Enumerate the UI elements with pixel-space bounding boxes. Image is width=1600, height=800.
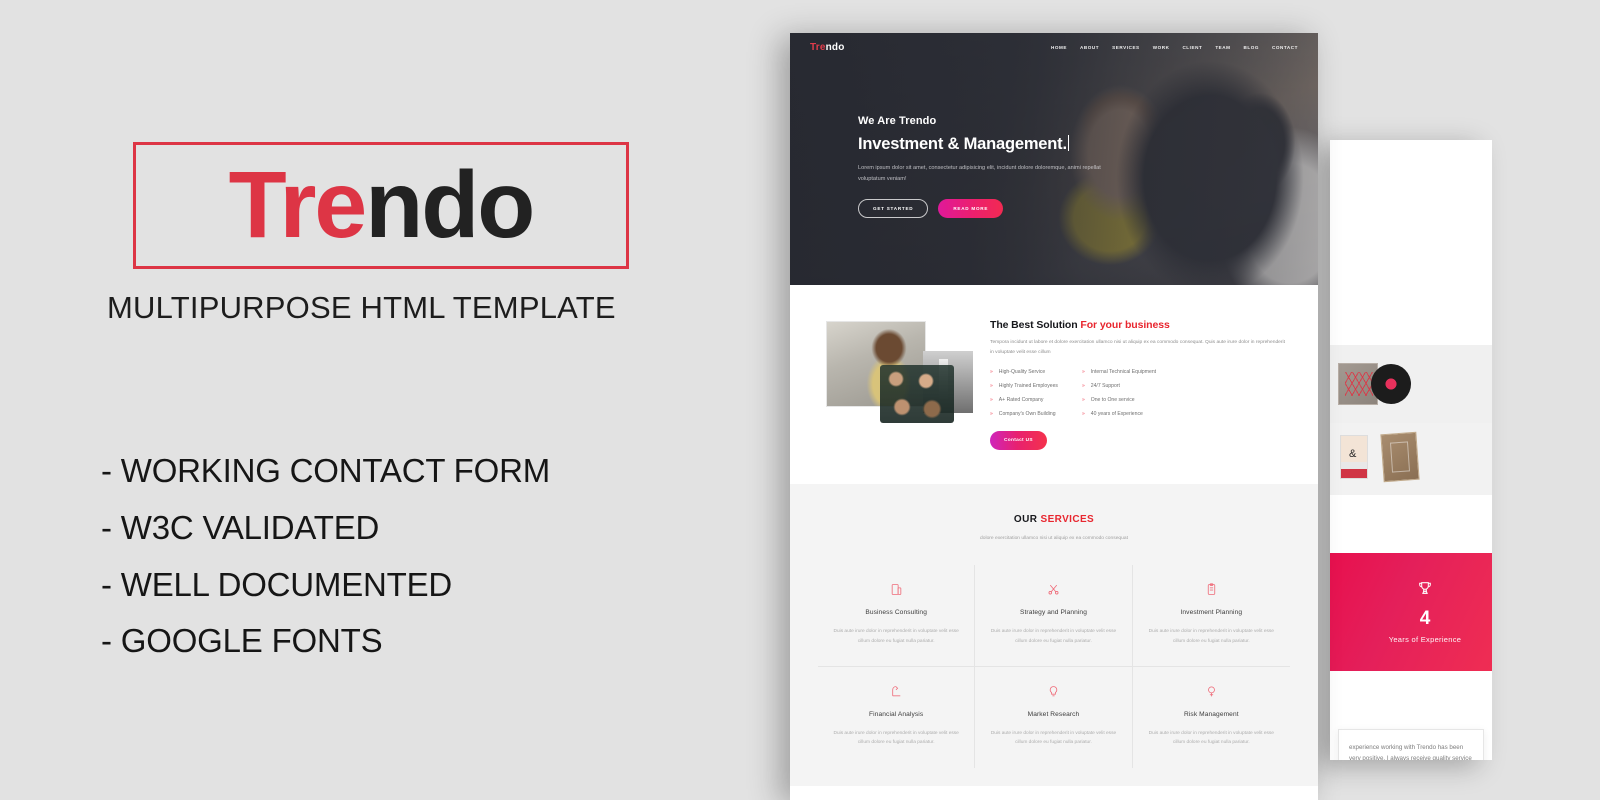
hero-title: Investment & Management. bbox=[858, 135, 1067, 153]
service-text: Duis aute irure dolor in reprehenderit i… bbox=[832, 627, 960, 646]
services-grid: Business Consulting Duis aute irure dolo… bbox=[818, 565, 1290, 767]
back-page-blank-mid bbox=[1330, 671, 1492, 723]
bullet-item: »High-Quality Service bbox=[990, 369, 1058, 375]
bullets-column-left: »High-Quality Service »Highly Trained Em… bbox=[990, 369, 1058, 417]
about-section: The Best Solution For your business Temp… bbox=[790, 285, 1318, 484]
read-more-button[interactable]: Read More bbox=[938, 199, 1003, 218]
trophy-icon bbox=[1417, 580, 1433, 599]
service-name: Investment Planning bbox=[1147, 609, 1276, 616]
services-header: OUR SERVICES dolore exercitation ullamco… bbox=[790, 514, 1318, 544]
promo-panel: Trendo MULTIPURPOSE HTML TEMPLATE - WORK… bbox=[0, 0, 790, 800]
bullet-item: »24/7 Support bbox=[1082, 383, 1156, 389]
about-title: The Best Solution For your business bbox=[990, 319, 1290, 331]
service-name: Market Research bbox=[989, 711, 1117, 718]
services-subtitle: dolore exercitation ullamco nisi ut aliq… bbox=[790, 534, 1318, 544]
testimonial-text: experience working with Trendo has been … bbox=[1349, 742, 1473, 760]
secondary-page-mockup: 4 Years of Experience experience working… bbox=[1330, 140, 1492, 760]
bullet-label: Internal Technical Equipment bbox=[1091, 369, 1156, 375]
chevron-right-icon: » bbox=[1082, 397, 1085, 403]
bullet-label: Company's Own Building bbox=[999, 411, 1056, 417]
about-bullets: »High-Quality Service »Highly Trained Em… bbox=[990, 369, 1290, 417]
service-name: Financial Analysis bbox=[832, 711, 960, 718]
bullets-column-right: »Internal Technical Equipment »24/7 Supp… bbox=[1082, 369, 1156, 417]
service-name: Risk Management bbox=[1147, 711, 1276, 718]
back-page-gap bbox=[1330, 495, 1492, 553]
chevron-right-icon: » bbox=[990, 369, 993, 375]
tagline: MULTIPURPOSE HTML TEMPLATE bbox=[107, 290, 667, 326]
service-card[interactable]: Investment Planning Duis aute irure dolo… bbox=[1133, 565, 1290, 667]
logo-part-red: Tre bbox=[229, 152, 366, 258]
chevron-right-icon: » bbox=[1082, 383, 1085, 389]
navbar-logo-red: Tre bbox=[810, 42, 826, 53]
clipboard-icon bbox=[1147, 583, 1276, 598]
experience-label: Years of Experience bbox=[1389, 635, 1462, 644]
shield-icon bbox=[1147, 685, 1276, 700]
about-copy: The Best Solution For your business Temp… bbox=[990, 317, 1290, 450]
nav-item-contact[interactable]: CONTACT bbox=[1272, 45, 1298, 50]
nav-item-work[interactable]: WORK bbox=[1153, 45, 1170, 50]
about-title-dark: The Best Solution bbox=[990, 319, 1078, 331]
feature-item: - WELL DOCUMENTED bbox=[101, 557, 741, 614]
service-card[interactable]: Financial Analysis Duis aute irure dolor… bbox=[818, 667, 975, 768]
experience-number: 4 bbox=[1420, 609, 1431, 628]
service-name: Business Consulting bbox=[832, 609, 960, 616]
service-card[interactable]: Business Consulting Duis aute irure dolo… bbox=[818, 565, 975, 667]
service-text: Duis aute irure dolor in reprehenderit i… bbox=[832, 729, 960, 748]
services-section: OUR SERVICES dolore exercitation ullamco… bbox=[790, 484, 1318, 786]
hero-content: We Are Trendo Investment & Management. L… bbox=[858, 115, 1158, 218]
feature-item: - WORKING CONTACT FORM bbox=[101, 443, 741, 500]
nav-item-team[interactable]: TEAM bbox=[1215, 45, 1230, 50]
bullet-label: One to One service bbox=[1091, 397, 1135, 403]
logo-part-dark: ndo bbox=[365, 152, 533, 258]
hero-subtitle: Lorem ipsum dolor sit amet, consectetur … bbox=[858, 163, 1113, 185]
promo-banner: Trendo MULTIPURPOSE HTML TEMPLATE - WORK… bbox=[0, 0, 1600, 800]
navbar-links: HOME ABOUT SERVICES WORK CLIENT TEAM BLO… bbox=[1051, 45, 1298, 50]
portfolio-row-one bbox=[1330, 345, 1492, 423]
bullet-item: »A+ Rated Company bbox=[990, 397, 1058, 403]
portfolio-row-two bbox=[1330, 423, 1492, 495]
hero-kicker: We Are Trendo bbox=[858, 115, 1158, 127]
chevron-right-icon: » bbox=[990, 397, 993, 403]
bullet-label: High-Quality Service bbox=[999, 369, 1045, 375]
service-text: Duis aute irure dolor in reprehenderit i… bbox=[1147, 729, 1276, 748]
chevron-right-icon: » bbox=[1082, 411, 1085, 417]
bullet-item: »Internal Technical Equipment bbox=[1082, 369, 1156, 375]
bullet-item: »Highly Trained Employees bbox=[990, 383, 1058, 389]
service-name: Strategy and Planning bbox=[989, 609, 1117, 616]
bullet-label: 24/7 Support bbox=[1091, 383, 1120, 389]
services-title-red: SERVICES bbox=[1041, 514, 1095, 525]
service-text: Duis aute irure dolor in reprehenderit i… bbox=[989, 729, 1117, 748]
bullet-label: A+ Rated Company bbox=[999, 397, 1044, 403]
chart-icon bbox=[832, 685, 960, 700]
lightbulb-icon bbox=[989, 685, 1117, 700]
vinyl-disc-thumb bbox=[1371, 364, 1411, 404]
navbar-logo[interactable]: Trendo bbox=[810, 42, 845, 53]
card-mockup-thumb bbox=[1380, 432, 1419, 482]
services-title-dark: OUR bbox=[1014, 514, 1037, 525]
hero-section: Trendo HOME ABOUT SERVICES WORK CLIENT T… bbox=[790, 33, 1318, 285]
nav-item-home[interactable]: HOME bbox=[1051, 45, 1067, 50]
feature-list: - WORKING CONTACT FORM - W3C VALIDATED -… bbox=[101, 443, 741, 670]
scissors-icon bbox=[989, 583, 1117, 598]
bullet-label: Highly Trained Employees bbox=[999, 383, 1058, 389]
service-text: Duis aute irure dolor in reprehenderit i… bbox=[1147, 627, 1276, 646]
services-title: OUR SERVICES bbox=[790, 514, 1318, 525]
about-title-red: For your business bbox=[1080, 319, 1169, 331]
hero-title-wrap: Investment & Management. bbox=[858, 135, 1158, 154]
brand-logo: Trendo bbox=[229, 158, 534, 253]
logo-box: Trendo bbox=[133, 142, 629, 269]
bullet-item: »One to One service bbox=[1082, 397, 1156, 403]
hero-buttons: Get Started Read More bbox=[858, 199, 1158, 218]
navbar-logo-white: ndo bbox=[826, 42, 845, 53]
about-description: Tempora incidunt ut labore et dolore exe… bbox=[990, 338, 1290, 358]
bullet-item: »Company's Own Building bbox=[990, 411, 1058, 417]
feature-item: - W3C VALIDATED bbox=[101, 500, 741, 557]
book-mockup-thumb bbox=[1340, 435, 1368, 479]
nav-item-about[interactable]: ABOUT bbox=[1080, 45, 1099, 50]
website-mockup: Trendo HOME ABOUT SERVICES WORK CLIENT T… bbox=[790, 33, 1318, 800]
service-card[interactable]: Market Research Duis aute irure dolor in… bbox=[975, 667, 1132, 768]
service-card[interactable]: Risk Management Duis aute irure dolor in… bbox=[1133, 667, 1290, 768]
feature-item: - GOOGLE FONTS bbox=[101, 613, 741, 670]
chevron-right-icon: » bbox=[1082, 369, 1085, 375]
service-card[interactable]: Strategy and Planning Duis aute irure do… bbox=[975, 565, 1132, 667]
back-page-blank-top bbox=[1330, 140, 1492, 345]
document-icon bbox=[832, 583, 960, 598]
chevron-right-icon: » bbox=[990, 383, 993, 389]
bullet-label: 40 years of Experience bbox=[1091, 411, 1143, 417]
chevron-right-icon: » bbox=[990, 411, 993, 417]
typing-caret bbox=[1068, 135, 1070, 151]
bullet-item: »40 years of Experience bbox=[1082, 411, 1156, 417]
contact-us-button[interactable]: Contact US bbox=[990, 431, 1047, 450]
photo-team-group bbox=[880, 365, 954, 423]
site-navbar: Trendo HOME ABOUT SERVICES WORK CLIENT T… bbox=[790, 33, 1318, 61]
nav-item-services[interactable]: SERVICES bbox=[1112, 45, 1140, 50]
get-started-button[interactable]: Get Started bbox=[858, 199, 928, 218]
experience-counter: 4 Years of Experience bbox=[1330, 553, 1492, 671]
nav-item-blog[interactable]: BLOG bbox=[1244, 45, 1259, 50]
nav-item-client[interactable]: CLIENT bbox=[1182, 45, 1202, 50]
testimonial-card: experience working with Trendo has been … bbox=[1338, 729, 1484, 760]
service-text: Duis aute irure dolor in reprehenderit i… bbox=[989, 627, 1117, 646]
about-image-collage bbox=[818, 317, 976, 425]
